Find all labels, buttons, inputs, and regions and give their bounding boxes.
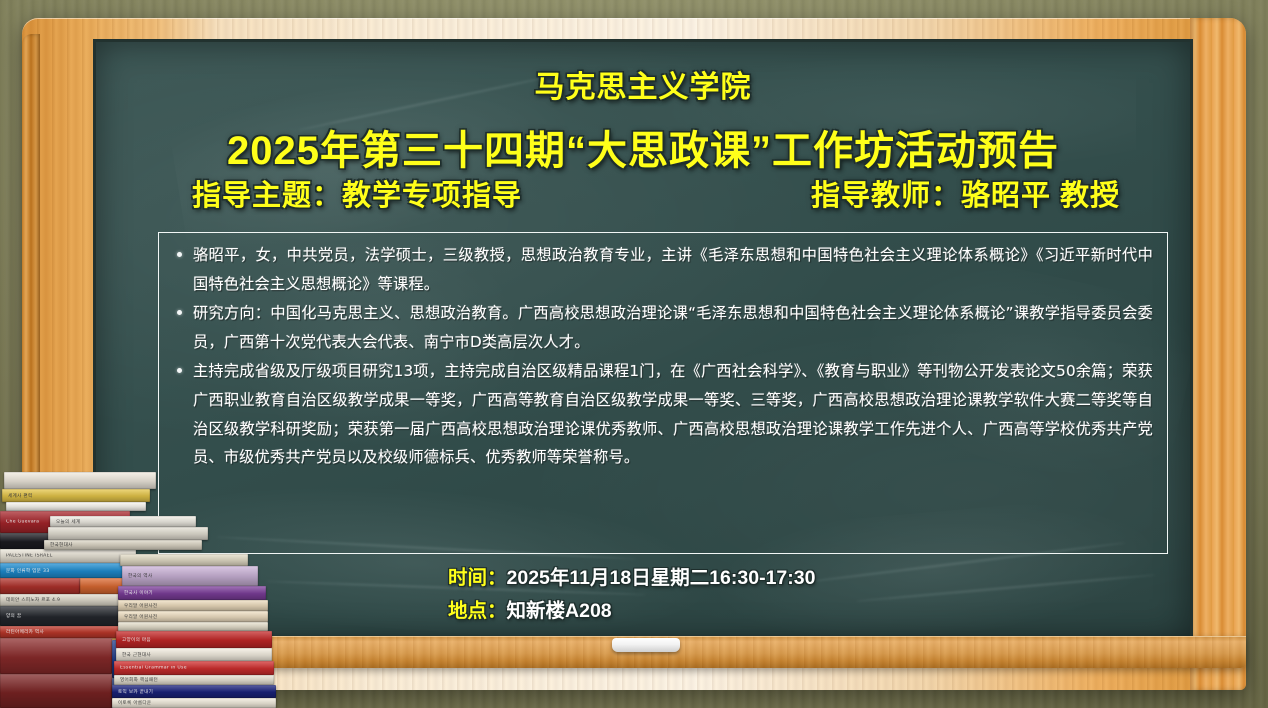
organization-title: 马克思主义学院 (96, 62, 1190, 106)
book-title-text: 고양이의 마음 (122, 637, 266, 643)
guidance-teacher: 指导教师：骆昭平 教授 (811, 172, 1120, 214)
chalk-eraser-icon (612, 638, 680, 652)
time-value: 2025年11月18日星期二16:30-17:30 (507, 562, 816, 595)
time-label: 时间： (448, 562, 507, 595)
book-spine: 이토록 아름다운 (112, 698, 276, 708)
book-title-text: 세계사 편력 (8, 493, 144, 499)
place-label: 地点： (448, 595, 507, 628)
frame-right-edge (1190, 18, 1246, 690)
book-spine: 우리말 어원사전 (118, 600, 268, 611)
book-spine (118, 622, 268, 631)
book-title-text: 한국사 이야기 (124, 590, 260, 596)
event-place-row: 地点： 知新楼A208 (448, 595, 1048, 628)
book-spine (4, 472, 156, 489)
biography-box: 骆昭平，女，中共党员，法学硕士，三级教授，思想政治教育专业，主讲《毛泽东思想和中… (158, 232, 1168, 554)
event-time-row: 时间： 2025年11月18日星期二16:30-17:30 (448, 562, 1048, 595)
book-title-text: 한국현대사 (50, 542, 196, 548)
subtitle-row: 指导主题：教学专项指导 指导教师：骆昭平 教授 (192, 172, 1120, 214)
book-spine: 오늘의 세계 (50, 516, 196, 527)
book-spine (0, 578, 80, 594)
book-title-text: 우리말 어원사전 (124, 614, 262, 620)
book-spine: 영어회화 핵심패턴 (114, 675, 274, 685)
book-title-text: 토익 보카 끝내기 (118, 689, 270, 695)
book-spine: 고양이의 마음 (116, 631, 272, 648)
book-spine (48, 527, 208, 540)
book-spine: 세계사 편력 (2, 489, 150, 502)
book-title-text: 한국 근현대사 (122, 652, 266, 658)
book-title-text: 이토록 아름다운 (118, 700, 270, 706)
place-value: 知新楼A208 (507, 595, 612, 628)
book-spine: 한국현대사 (44, 540, 202, 550)
book-spine: 우리말 어원사전 (118, 611, 268, 622)
book-title-text: 영어회화 핵심패턴 (120, 677, 268, 683)
book-title-text: 우리말 어원사전 (124, 603, 262, 609)
list-item: 骆昭平，女，中共党员，法学硕士，三级教授，思想政治教育专业，主讲《毛泽东思想和中… (167, 241, 1153, 298)
book-spine (0, 674, 112, 708)
book-title-text: 한국의 역사 (128, 573, 252, 579)
guidance-topic: 指导主题：教学专项指导 (192, 172, 522, 214)
list-item: 主持完成省级及厅级项目研究13项，主持完成自治区级精品课程1门，在《广西社会科学… (167, 357, 1153, 471)
book-spine (0, 638, 112, 674)
biography-list: 骆昭平，女，中共党员，法学硕士，三级教授，思想政治教育专业，主讲《毛泽东思想和中… (167, 241, 1153, 472)
book-spine: 한국사 이야기 (118, 586, 266, 600)
book-spine: 한국의 역사 (122, 566, 258, 586)
event-details: 时间： 2025年11月18日星期二16:30-17:30 地点： 知新楼A20… (448, 562, 1048, 628)
page-title: 2025年第三十四期“大思政课”工作坊活动预告 (96, 118, 1190, 176)
book-spine: 토익 보카 끝내기 (112, 685, 276, 698)
book-spine (120, 554, 248, 566)
book-spine (6, 502, 146, 511)
book-title-text: 오늘의 세계 (56, 519, 190, 525)
book-spine: 한국 근현대사 (116, 648, 272, 661)
book-spine: Essential Grammar in Use (114, 661, 274, 675)
book-title-text: Essential Grammar in Use (120, 666, 268, 671)
book-stack: 세계사 편력Che Guevara오늘의 세계PALESTINE ISRAEL한… (0, 472, 292, 708)
list-item: 研究方向：中国化马克思主义、思想政治教育。广西高校思想政治理论课“毛泽东思想和中… (167, 299, 1153, 356)
book-spine: PALESTINE ISRAEL (0, 549, 136, 563)
book-title-text: PALESTINE ISRAEL (6, 554, 130, 559)
